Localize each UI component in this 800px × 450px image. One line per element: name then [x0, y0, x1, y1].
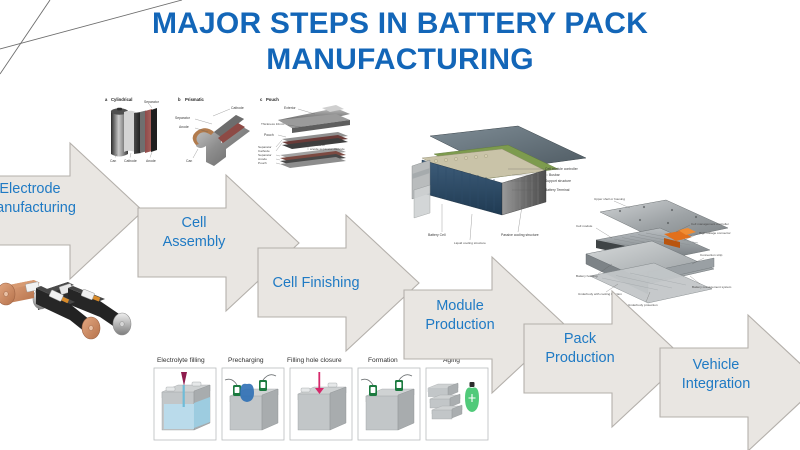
svg-text:Upper shell or housing: Upper shell or housing: [594, 197, 625, 201]
process-arrow-vehicle-integration[interactable]: Vehicle Integration: [660, 312, 800, 450]
svg-text:Battery Terminal: Battery Terminal: [545, 188, 570, 192]
svg-text:Battery housing: Battery housing: [576, 274, 598, 278]
slide-canvas: MAJOR STEPS IN BATTERY PACK MANUFACTURIN…: [0, 0, 800, 450]
page-title: MAJOR STEPS IN BATTERY PACK MANUFACTURIN…: [90, 6, 710, 78]
svg-text:Formation: Formation: [368, 357, 398, 364]
svg-text:High voltage connector: High voltage connector: [699, 231, 731, 235]
svg-text:Busbar: Busbar: [549, 173, 561, 177]
svg-text:Battery management system: Battery management system: [692, 285, 732, 289]
svg-text:Pouch: Pouch: [266, 97, 279, 102]
svg-text:Cell module: Cell module: [576, 224, 593, 228]
process-arrow-cell-finishing[interactable]: Cell Finishing: [258, 212, 422, 354]
title-line-2: MANUFACTURING: [90, 42, 710, 78]
svg-text:Can: Can: [186, 159, 192, 163]
svg-text:Passive cooling structure: Passive cooling structure: [501, 233, 539, 237]
svg-text:Cylindrical: Cylindrical: [111, 97, 132, 102]
svg-text:a: a: [105, 97, 108, 102]
svg-text:Exterior: Exterior: [284, 106, 297, 110]
title-line-1: MAJOR STEPS IN BATTERY PACK: [152, 7, 648, 40]
svg-text:Pouch: Pouch: [264, 133, 274, 137]
svg-text:Anode: Anode: [146, 159, 156, 163]
svg-text:b: b: [178, 97, 181, 102]
svg-text:Filling hole closure: Filling hole closure: [287, 357, 342, 364]
svg-text:Battery Cell: Battery Cell: [428, 233, 446, 237]
svg-text:Prismatic: Prismatic: [185, 97, 205, 102]
svg-text:Pouch: Pouch: [258, 161, 267, 165]
process-arrow-electrode-manufacturing[interactable]: Electrode Manufacturing: [0, 140, 145, 282]
module-production-figure: Cell module controller Busbar Support st…: [412, 114, 592, 246]
svg-text:Electrolyte filling: Electrolyte filling: [157, 357, 205, 364]
svg-text:anode-separator-cathode: anode-separator-cathode: [310, 147, 345, 151]
svg-text:Liquid cooling structure: Liquid cooling structure: [454, 241, 486, 245]
svg-text:Separator: Separator: [144, 100, 160, 104]
svg-text:Cathode: Cathode: [231, 106, 244, 110]
svg-text:Anode: Anode: [179, 125, 189, 129]
svg-text:Support structure: Support structure: [545, 179, 571, 183]
svg-text:Cell module controller: Cell module controller: [545, 167, 579, 171]
svg-text:Precharging: Precharging: [228, 357, 264, 364]
svg-text:Separator: Separator: [175, 116, 191, 120]
svg-text:Thickness 10mm: Thickness 10mm: [261, 122, 285, 126]
svg-text:c: c: [260, 97, 263, 102]
svg-text:Connection strip: Connection strip: [700, 253, 723, 257]
svg-text:Cell management controller: Cell management controller: [691, 222, 729, 226]
